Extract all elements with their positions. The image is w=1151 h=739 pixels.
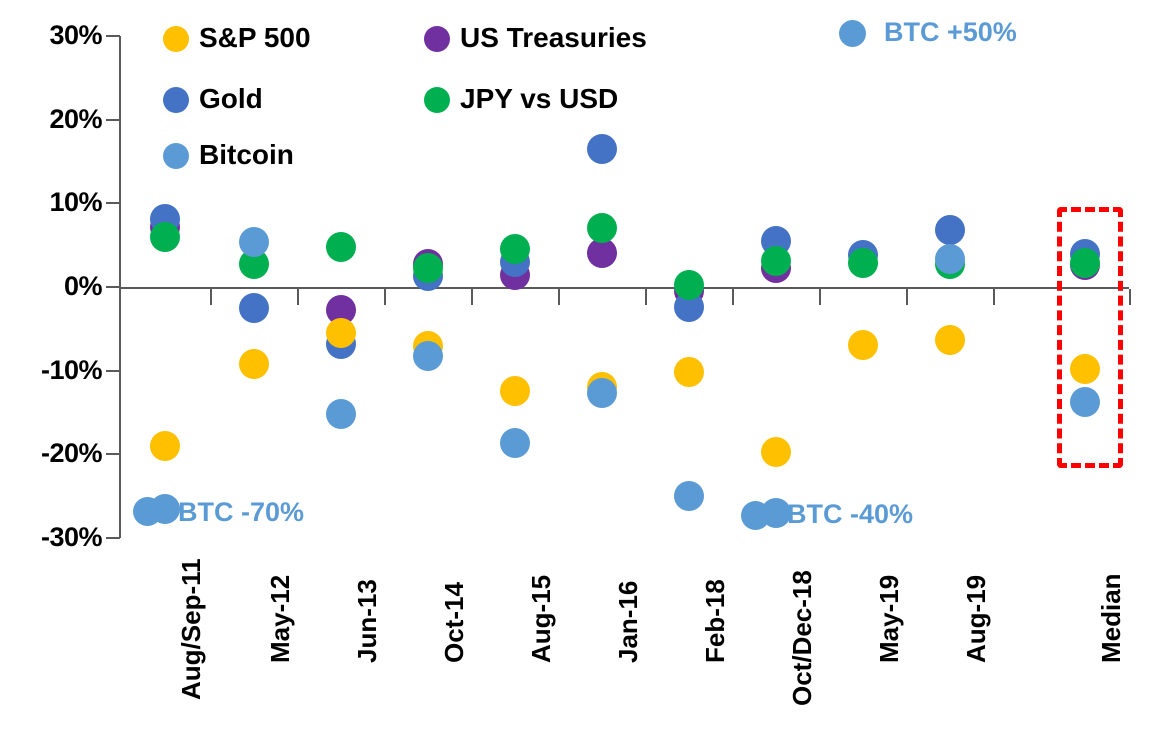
data-point (326, 399, 356, 429)
legend-label: S&P 500 (199, 22, 311, 54)
data-point (326, 232, 356, 262)
x-axis-label: Jan-16 (613, 581, 644, 663)
data-point (587, 213, 617, 243)
data-point (935, 215, 965, 245)
data-point (761, 437, 791, 467)
y-axis-tick (106, 370, 120, 372)
x-axis-label: Aug-19 (961, 575, 992, 663)
data-point (587, 378, 617, 408)
y-axis-label: -20% (0, 440, 102, 467)
x-axis-tick (732, 289, 734, 305)
x-axis-label: Oct/Dec-18 (787, 570, 818, 706)
y-axis-tick (106, 286, 120, 288)
x-axis-tick (210, 289, 212, 305)
data-point (674, 481, 704, 511)
x-axis-tick (906, 289, 908, 305)
x-axis-tick (819, 289, 821, 305)
x-axis-tick (993, 289, 995, 305)
y-axis-label: 20% (0, 106, 102, 133)
data-point (239, 293, 269, 323)
legend-swatch (163, 87, 189, 113)
x-axis-label: May-19 (874, 575, 905, 663)
y-axis-label: 0% (0, 273, 102, 300)
x-axis-label: Aug-15 (526, 575, 557, 663)
x-axis-label: Feb-18 (700, 579, 731, 663)
x-axis-label: Median (1096, 573, 1127, 663)
y-axis-tick (106, 35, 120, 37)
y-axis-tick (106, 537, 120, 539)
btc-down-40-marker (741, 501, 770, 530)
x-axis-tick (471, 289, 473, 305)
data-point (1070, 248, 1100, 278)
legend-swatch (424, 87, 450, 113)
data-point (935, 325, 965, 355)
btc-down-70-marker (133, 497, 162, 526)
data-point (761, 246, 791, 276)
data-point (848, 248, 878, 278)
legend-swatch (163, 143, 189, 169)
x-axis-tick (645, 289, 647, 305)
x-axis-tick (558, 289, 560, 305)
y-axis-label: -10% (0, 357, 102, 384)
btc-down-70-label: BTC -70% (178, 497, 304, 528)
data-point (413, 253, 443, 283)
data-point (150, 431, 180, 461)
data-point (413, 341, 443, 371)
legend-swatch (163, 26, 189, 52)
btc-down-40-label: BTC -40% (787, 499, 913, 530)
legend-label: Gold (199, 83, 263, 115)
data-point (239, 349, 269, 379)
data-point (326, 318, 356, 348)
x-axis-label: Oct-14 (439, 582, 470, 663)
x-axis-label: May-12 (265, 575, 296, 663)
data-point (500, 376, 530, 406)
btc-up-50-label: BTC +50% (884, 17, 1017, 48)
data-point (587, 134, 617, 164)
y-axis-label: 30% (0, 22, 102, 49)
y-axis-label: 10% (0, 189, 102, 216)
data-point (150, 222, 180, 252)
chart-canvas: 30%20%10%0%-10%-20%-30% Aug/Sep-11May-12… (0, 0, 1151, 739)
y-axis-tick (106, 202, 120, 204)
legend-label: US Treasuries (460, 22, 647, 54)
data-point (239, 227, 269, 257)
x-axis-tick (297, 289, 299, 305)
x-axis-tick (1129, 289, 1131, 305)
legend-swatch (424, 26, 450, 52)
x-axis-label: Jun-13 (352, 579, 383, 663)
y-axis-tick (106, 453, 120, 455)
legend-label: JPY vs USD (460, 83, 618, 115)
data-point (935, 244, 965, 274)
x-axis-label: Aug/Sep-11 (176, 558, 207, 700)
y-axis-tick (106, 119, 120, 121)
data-point (848, 330, 878, 360)
x-axis-tick (384, 289, 386, 305)
plot-area: 30%20%10%0%-10%-20%-30% Aug/Sep-11May-12… (0, 0, 1151, 739)
btc-up-50-marker (839, 20, 866, 47)
data-point (500, 428, 530, 458)
data-point (674, 357, 704, 387)
y-axis-label: -30% (0, 524, 102, 551)
zero-axis-line (119, 287, 1129, 289)
data-point (1070, 354, 1100, 384)
legend-label: Bitcoin (199, 139, 294, 171)
